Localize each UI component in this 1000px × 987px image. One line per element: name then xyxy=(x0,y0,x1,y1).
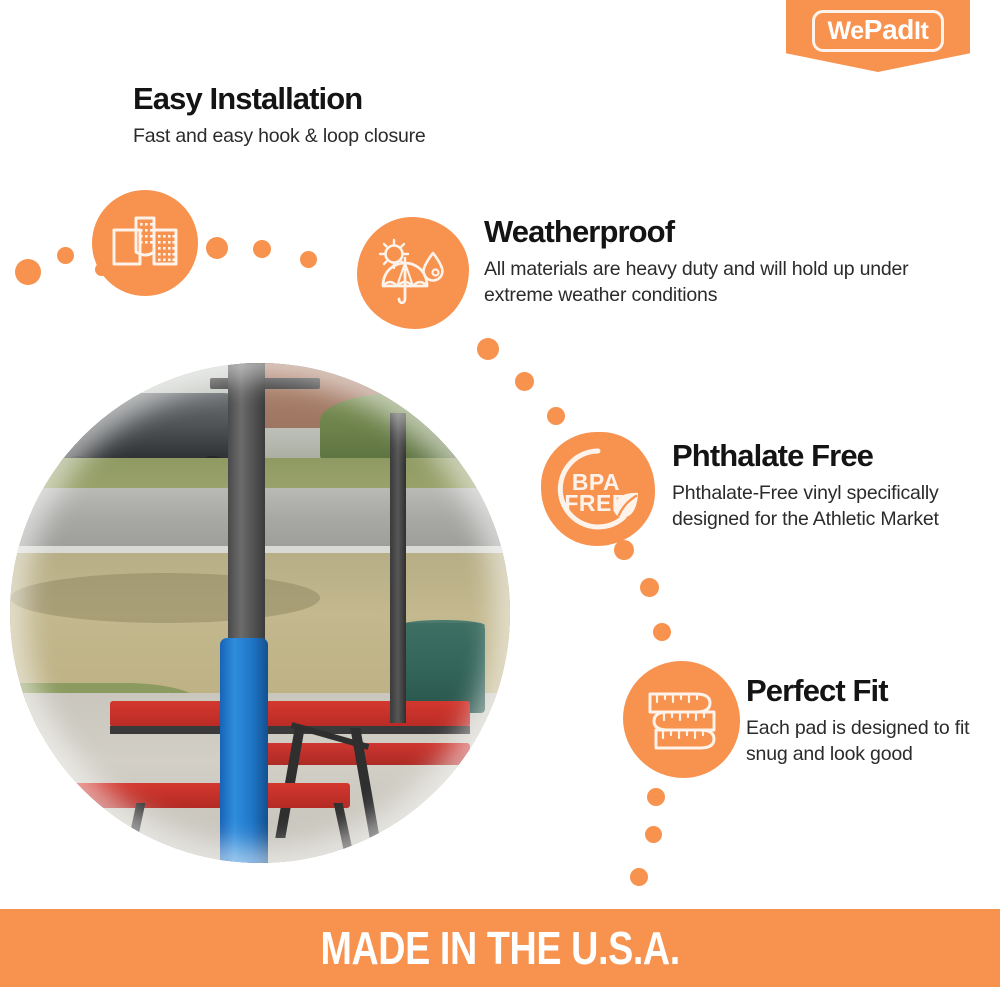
trail-dot xyxy=(647,788,665,806)
photo-suv-window xyxy=(60,401,120,405)
made-in-usa-text: MADE IN THE U.S.A. xyxy=(320,921,679,975)
feature-title-weatherproof: Weatherproof xyxy=(484,214,674,250)
trail-dot xyxy=(57,247,74,264)
logo-text-it: It xyxy=(914,17,928,45)
feature-description-perfect-fit: Each pad is designed to fit snug and loo… xyxy=(746,716,981,767)
trail-dot xyxy=(645,826,662,843)
icon-circle-easy-installation xyxy=(92,190,198,296)
trail-dot xyxy=(653,623,671,641)
trail-dot xyxy=(15,259,41,285)
logo-text: WePadIt xyxy=(828,16,929,44)
feature-title-perfect-fit: Perfect Fit xyxy=(746,673,888,709)
umbrella-sun-raindrop-icon xyxy=(375,237,451,309)
feature-title-phthalate-free: Phthalate Free xyxy=(672,438,873,474)
feature-description-phthalate-free: Phthalate-Free vinyl specifically design… xyxy=(672,481,942,532)
logo-text-pad: Pad xyxy=(864,14,914,45)
trail-dot xyxy=(300,251,317,268)
trail-dot xyxy=(630,868,648,886)
feature-description-easy-installation: Fast and easy hook & loop closure xyxy=(133,124,553,150)
trail-dot xyxy=(206,237,228,259)
logo-text-we: We xyxy=(828,17,864,45)
photo-hedge xyxy=(320,393,510,463)
product-photo xyxy=(10,363,510,863)
icon-circle-perfect-fit xyxy=(623,661,740,778)
trail-dot xyxy=(515,372,534,391)
photo-lawn-patch xyxy=(10,573,320,623)
photo-trash-barrel xyxy=(400,623,485,713)
photo-right-pole xyxy=(390,413,406,723)
photo-main-pole xyxy=(228,363,266,643)
feature-description-weatherproof: All materials are heavy duty and will ho… xyxy=(484,257,914,308)
trail-dot xyxy=(640,578,659,597)
feature-title-easy-installation: Easy Installation xyxy=(133,81,362,117)
photo-pole-arm xyxy=(210,378,320,389)
icon-circle-weatherproof xyxy=(357,217,469,329)
product-photo-scene xyxy=(10,363,510,863)
trail-dot xyxy=(253,240,271,258)
infographic-root: WePadIt Easy Installation Fast and easy … xyxy=(0,0,1000,987)
trail-dot xyxy=(614,540,634,560)
trail-dot xyxy=(477,338,499,360)
photo-picnic-table-top xyxy=(110,701,470,727)
photo-bench-near xyxy=(50,783,350,808)
trail-dot xyxy=(547,407,565,425)
brand-logo-badge: WePadIt xyxy=(786,0,970,72)
photo-blue-pole-pad xyxy=(220,638,268,863)
logo-frame: WePadIt xyxy=(812,10,945,52)
made-in-usa-banner: MADE IN THE U.S.A. xyxy=(0,909,1000,987)
hook-and-loop-icon xyxy=(110,212,180,274)
icon-circle-phthalate-free: BPA FREE xyxy=(541,432,655,546)
photo-parked-suv xyxy=(40,393,240,463)
bpa-free-leaf-icon: BPA FREE xyxy=(552,443,644,535)
measuring-tape-icon xyxy=(638,676,726,764)
